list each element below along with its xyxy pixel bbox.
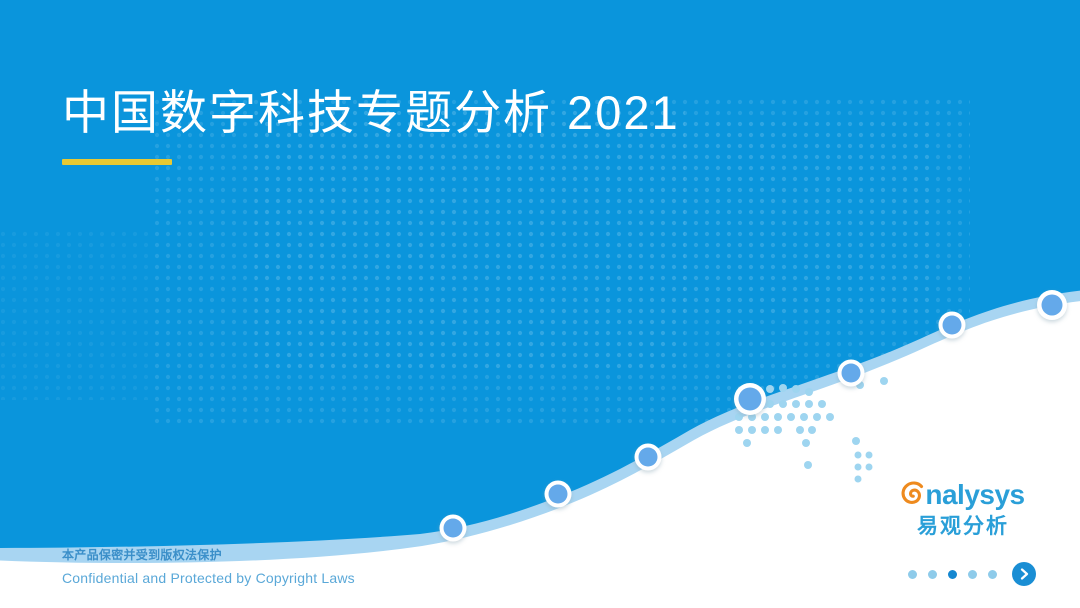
- pagination-dot-1[interactable]: [908, 570, 917, 579]
- next-slide-button[interactable]: [1012, 562, 1036, 586]
- confidential-notice-en: Confidential and Protected by Copyright …: [62, 568, 355, 590]
- logo-chinese-name: 易观分析: [898, 516, 1028, 537]
- analysys-logo: nalysys 易观分析: [898, 478, 1028, 537]
- analysys-swoosh-icon: [901, 480, 927, 510]
- logo-wordmark: nalysys: [898, 478, 1028, 512]
- pagination-dot-3[interactable]: [948, 570, 957, 579]
- page-title: 中国数字科技专题分析 2021: [62, 84, 680, 141]
- pagination-dot-2[interactable]: [928, 570, 937, 579]
- chart-marker: [943, 316, 962, 335]
- title-underline-accent: [62, 159, 172, 165]
- pagination-dot-4[interactable]: [968, 570, 977, 579]
- chart-marker: [549, 485, 568, 504]
- chart-marker: [739, 388, 762, 411]
- chart-marker: [1042, 295, 1063, 316]
- cover-slide: 中国数字科技专题分析 2021 本产品保密并受到版权法保护 Confidenti…: [0, 0, 1080, 608]
- confidential-notice-cn: 本产品保密并受到版权法保护: [62, 546, 355, 565]
- chart-marker: [444, 519, 463, 538]
- pagination-dot-5[interactable]: [988, 570, 997, 579]
- title-block: 中国数字科技专题分析 2021: [62, 84, 680, 165]
- chart-marker: [842, 364, 861, 383]
- copyright-footer: 本产品保密并受到版权法保护 Confidential and Protected…: [62, 546, 355, 589]
- pagination-control[interactable]: [908, 562, 1036, 586]
- chart-marker: [639, 448, 658, 467]
- logo-wordmark-text: nalysys: [925, 481, 1024, 509]
- chevron-right-icon: [1019, 568, 1030, 580]
